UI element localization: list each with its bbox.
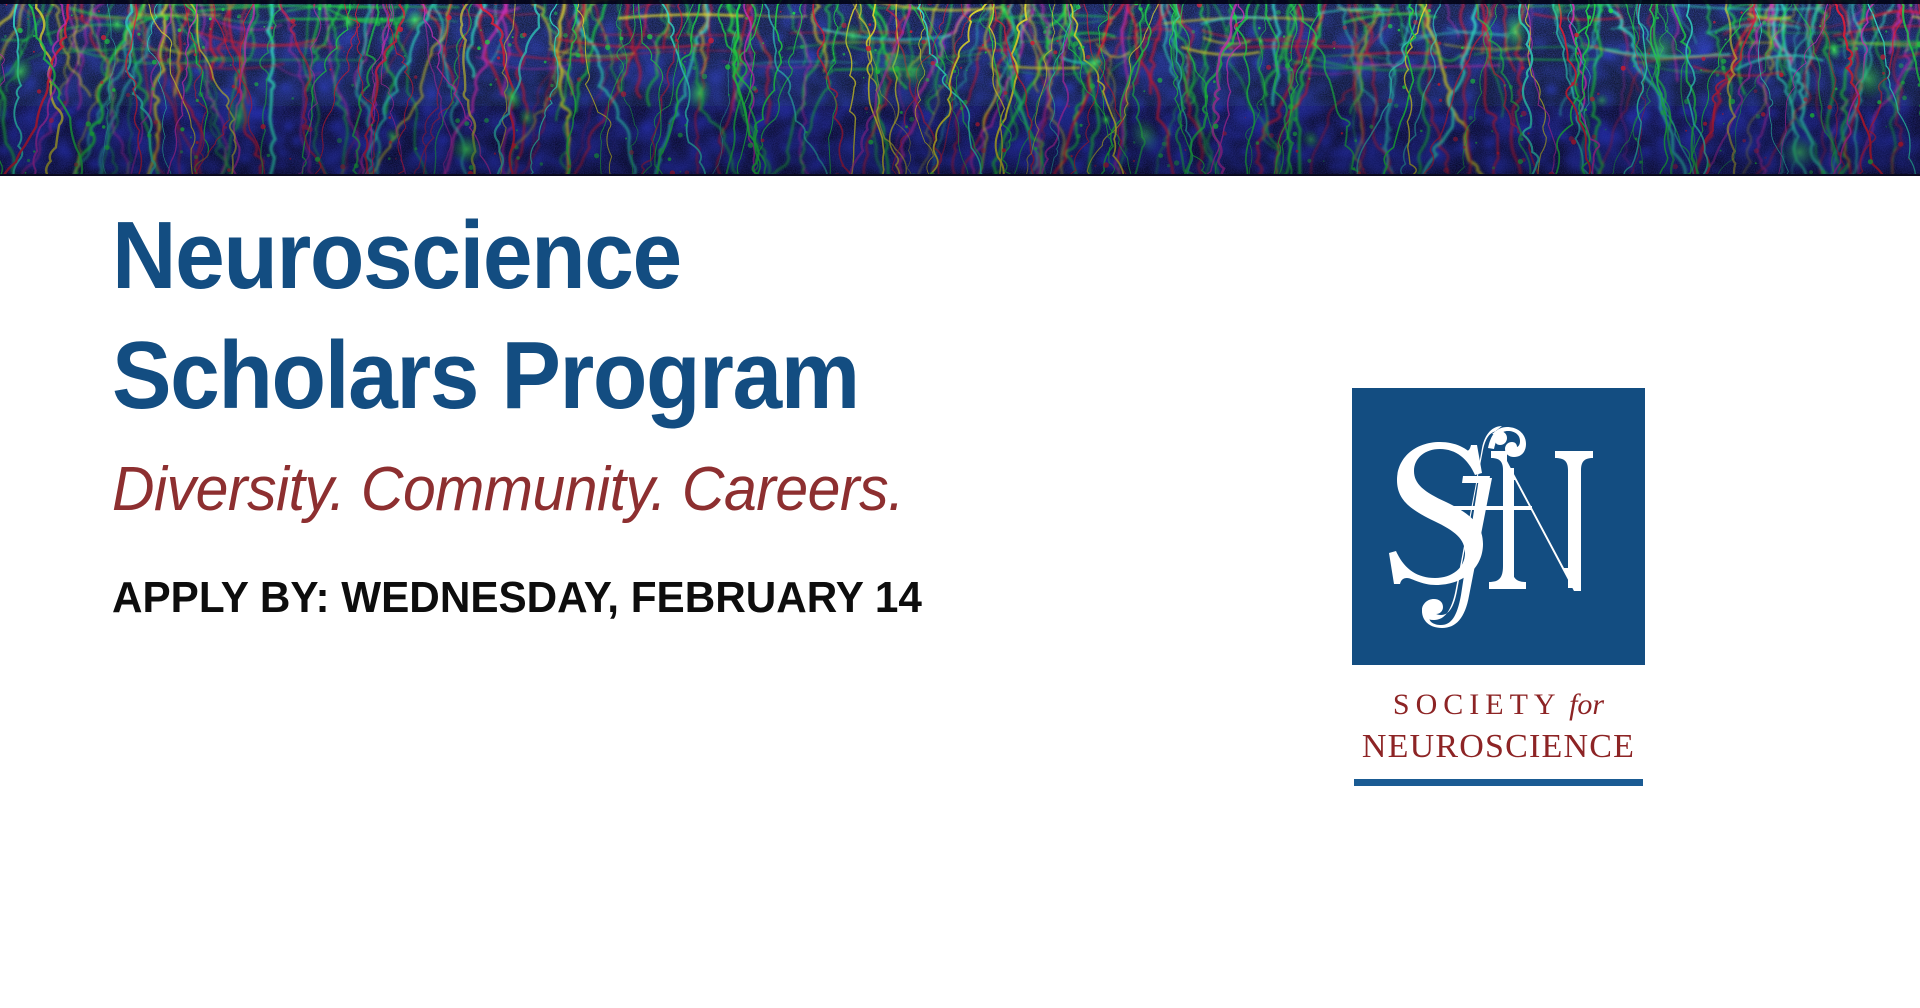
sfn-wordmark: SOCIETY for NEUROSCIENCE [1352, 687, 1645, 786]
sfn-wordmark-line-2: NEUROSCIENCE [1352, 727, 1645, 767]
sfn-wordmark-rule [1354, 779, 1643, 786]
sfn-monogram-icon [1352, 388, 1645, 665]
headline-block: Neuroscience Scholars Program Diversity.… [112, 196, 1222, 624]
page-title-line-1: Neuroscience [112, 196, 1144, 316]
sfn-monogram-mark [1352, 388, 1645, 665]
neuron-microscopy-graphic [0, 0, 1920, 176]
page-title-line-2: Scholars Program [112, 316, 1144, 436]
poster-canvas: Neuroscience Scholars Program Diversity.… [0, 0, 1920, 1008]
neuron-microscopy-banner [0, 0, 1920, 176]
sfn-wordmark-society: SOCIETY [1393, 688, 1562, 721]
sfn-wordmark-for: for [1562, 688, 1605, 721]
application-deadline: APPLY BY: WEDNESDAY, FEBRUARY 14 [112, 572, 1178, 624]
tagline: Diversity. Community. Careers. [112, 454, 1167, 526]
sfn-wordmark-line-1: SOCIETY for [1352, 687, 1645, 723]
sfn-logo-lockup: SOCIETY for NEUROSCIENCE [1352, 388, 1652, 786]
